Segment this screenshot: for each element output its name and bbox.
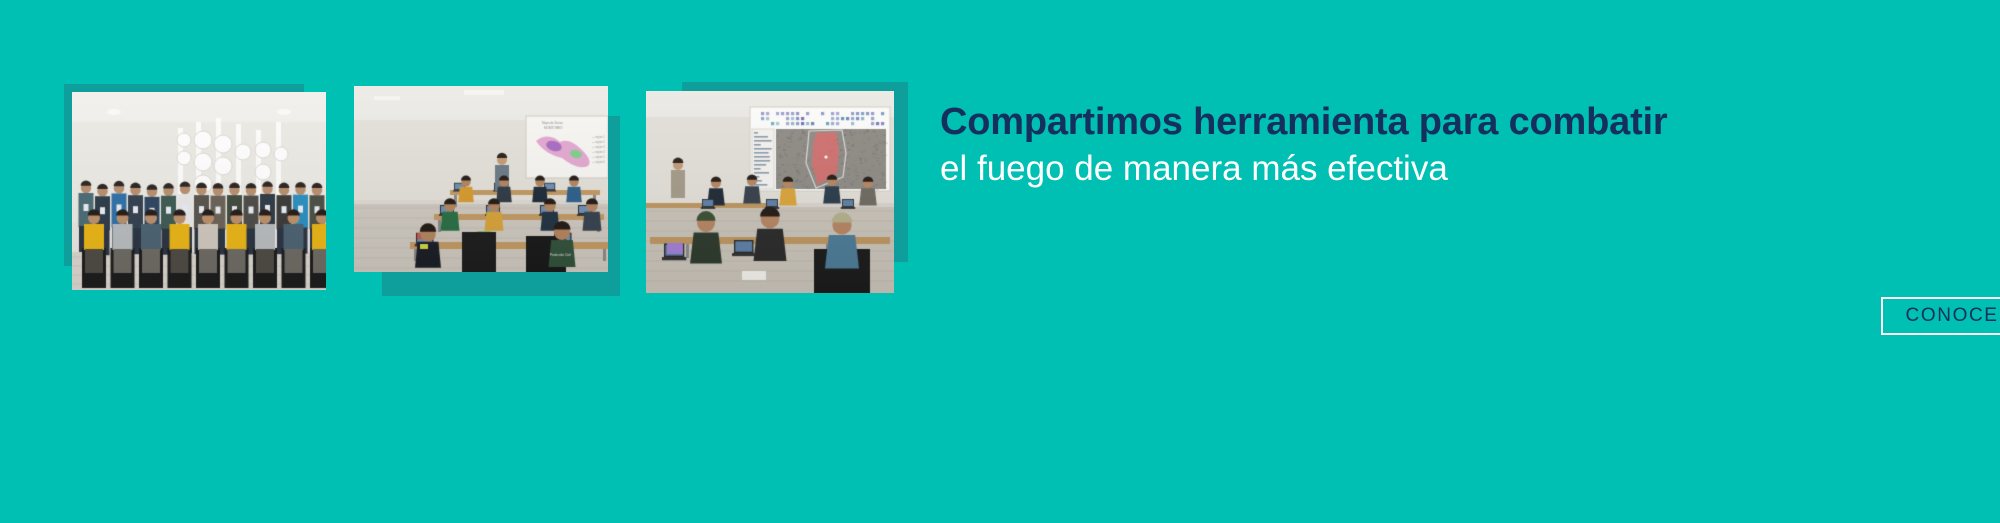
page-title: Compartimos herramienta para combatir bbox=[940, 100, 1940, 144]
cta-label-regular: CONOCE bbox=[1906, 305, 2000, 326]
promo-banner: Compartimos herramienta para combatir el… bbox=[0, 0, 2000, 523]
gallery-item-3 bbox=[646, 82, 910, 294]
gallery-item-1 bbox=[64, 84, 326, 290]
gallery-item-2 bbox=[354, 86, 616, 296]
group-photo bbox=[72, 92, 326, 290]
classroom-photo-projector-map bbox=[354, 86, 608, 272]
cta-label: CONOCE MÁS bbox=[1906, 305, 2000, 327]
page-subtitle: el fuego de manera más efectiva bbox=[940, 148, 1940, 189]
classroom-photo-fire-map bbox=[646, 91, 894, 293]
conoce-mas-button[interactable]: CONOCE MÁS bbox=[1881, 297, 2000, 335]
banner-text-block: Compartimos herramienta para combatir el… bbox=[940, 100, 1940, 189]
